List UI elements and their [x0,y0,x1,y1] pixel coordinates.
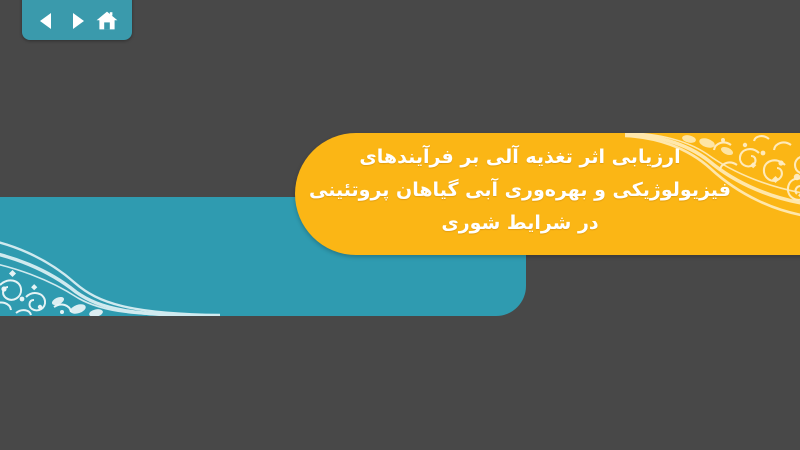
title-line-2: فیزیولوژیکی و بهره‌وری آبی گیاهان پروتئی… [300,174,740,207]
slide-canvas: ارزیابی اثر تغذیه آلی بر فرآیندهای فیزیو… [0,0,800,450]
back-arrow-icon [36,10,58,32]
slide-title: ارزیابی اثر تغذیه آلی بر فرآیندهای فیزیو… [300,137,740,249]
title-line-1: ارزیابی اثر تغذیه آلی بر فرآیندهای [300,141,740,174]
arabesque-corner-ornament-bottom-left [0,197,220,316]
home-button[interactable] [95,9,119,33]
title-line-3: در شرایط شوری [300,207,740,240]
navigation-bar [22,0,132,40]
back-button[interactable] [35,9,59,33]
home-icon [95,9,119,33]
forward-button[interactable] [65,9,89,33]
forward-arrow-icon [66,10,88,32]
